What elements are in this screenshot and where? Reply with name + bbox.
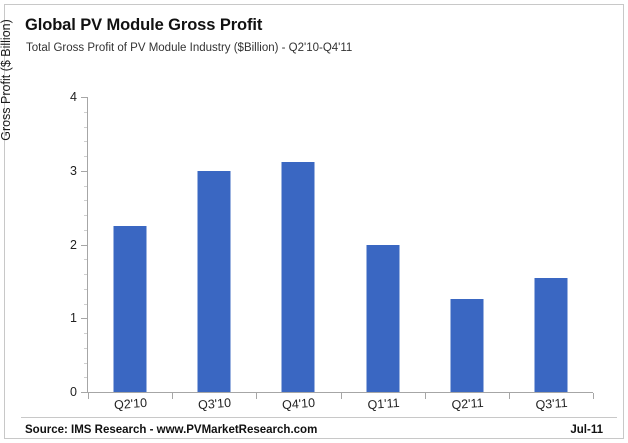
source-label: Source: IMS Research - www.PVMarketResea…	[25, 424, 317, 436]
footer-divider	[21, 417, 617, 418]
x-tick-mark	[256, 393, 257, 399]
bar[interactable]	[282, 162, 315, 392]
x-tick-label: Q3'11	[509, 394, 594, 414]
y-tick-label: 1	[53, 311, 77, 325]
x-tick-label: Q2'10	[88, 394, 173, 414]
bars-layer	[88, 97, 593, 392]
y-tick-label: 4	[53, 90, 77, 104]
bar[interactable]	[198, 171, 231, 392]
bar[interactable]	[450, 299, 483, 392]
x-tick-mark	[509, 393, 510, 399]
x-tick-mark	[425, 393, 426, 399]
page-title: Global PV Module Gross Profit	[25, 16, 262, 35]
chart-page: Global PV Module Gross Profit Total Gros…	[0, 0, 628, 443]
y-tick-label: 2	[53, 238, 77, 252]
x-tick-label: Q2'11	[425, 394, 510, 414]
x-tick-label: Q3'10	[172, 394, 257, 414]
x-tick-label: Q1'11	[341, 394, 426, 414]
x-tick-mark	[341, 393, 342, 399]
bar-slot	[88, 97, 172, 392]
x-tick-label: Q4'10	[256, 394, 341, 414]
y-axis-title: Gross Profit ($ Billion)	[0, 0, 13, 165]
x-tick-mark	[172, 393, 173, 399]
date-label: Jul-11	[570, 424, 603, 436]
bar-slot	[425, 97, 509, 392]
bar-slot	[341, 97, 425, 392]
x-tick-mark	[88, 393, 89, 399]
bar[interactable]	[114, 226, 147, 392]
chart-subtitle: Total Gross Profit of PV Module Industry…	[26, 42, 352, 54]
y-tick-label: 0	[53, 385, 77, 399]
bar-slot	[172, 97, 256, 392]
bar-slot	[509, 97, 593, 392]
x-tick-mark	[593, 393, 594, 399]
bar[interactable]	[366, 245, 399, 393]
y-tick-label: 3	[53, 164, 77, 178]
bar[interactable]	[534, 278, 567, 392]
chart-frame: Global PV Module Gross Profit Total Gros…	[4, 4, 624, 439]
bar-slot	[256, 97, 340, 392]
